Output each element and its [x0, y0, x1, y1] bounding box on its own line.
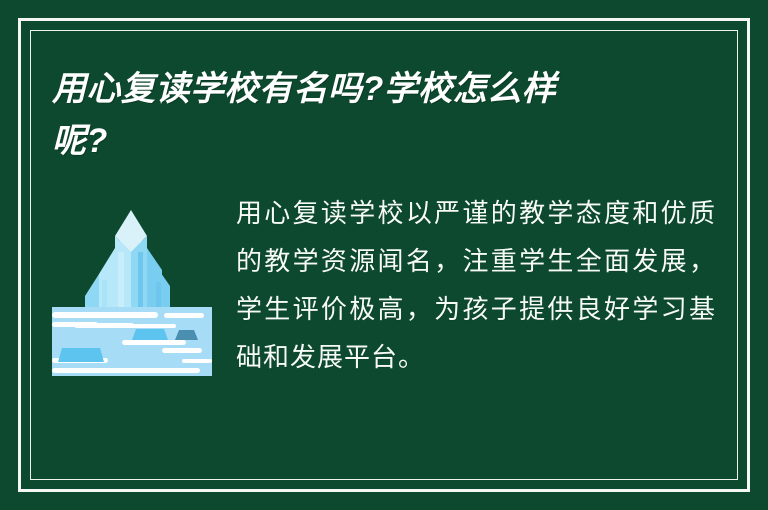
body-paragraph: 用心复读学校以严谨的教学态度和优质的教学资源闻名，注重学生全面发展，学生评价极高… — [236, 190, 716, 382]
iceberg-illustration — [52, 196, 212, 376]
page-title-line-2: 呢? — [52, 122, 108, 160]
content-row: 用心复读学校以严谨的教学态度和优质的教学资源闻名，注重学生全面发展，学生评价极高… — [52, 190, 716, 382]
iceberg-icon — [52, 196, 212, 376]
page-title-line-1: 用心复读学校有名吗?学校怎么样 — [52, 70, 556, 108]
poster-canvas: 用心复读学校有名吗?学校怎么样 呢? — [0, 0, 768, 510]
page-title: 用心复读学校有名吗?学校怎么样 呢? — [52, 63, 672, 167]
